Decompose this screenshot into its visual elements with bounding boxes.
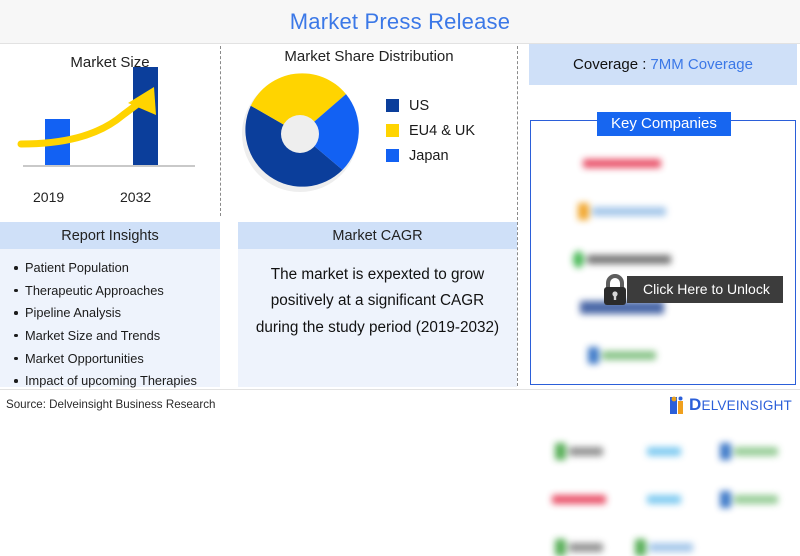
company-logo [573,251,671,268]
market-share-panel: Market Share Distribution US [222,48,516,216]
list-item: Patient Population [14,257,214,280]
list-item: Market Opportunities [14,348,214,371]
unlock-cta[interactable]: Click Here to Unlock [597,271,783,307]
legend-swatch-icon [386,99,399,112]
page-title: Market Press Release [290,9,510,35]
market-cagr-text: The market is expexted to grow positivel… [238,249,517,341]
divider-vertical-right [517,46,518,386]
company-logo [647,447,681,456]
key-companies-badge: Key Companies [597,112,731,136]
company-logo [720,491,778,508]
market-share-legend: US EU4 & UK Japan [386,98,475,173]
report-insights-panel: Report Insights Patient Population Thera… [0,222,220,387]
legend-swatch-icon [386,124,399,137]
market-share-donut-chart [236,73,364,195]
market-size-bar-chart [15,79,205,189]
growth-arrow-icon [15,79,205,189]
footer-bar: Source: Delveinsight Business Research D… [0,389,800,421]
x-label-2019: 2019 [33,189,64,205]
delveinsight-mark-icon [669,394,689,416]
legend-item-us: US [386,98,475,114]
company-logo-grid [531,135,797,383]
legend-label-eu4-uk: EU4 & UK [409,123,475,139]
list-item: Market Size and Trends [14,325,214,348]
source-note: Source: Delveinsight Business Research [6,398,215,411]
company-logo [635,539,693,556]
company-logo [555,443,603,460]
report-insights-title: Report Insights [0,222,220,249]
report-insights-list: Patient Population Therapeutic Approache… [0,249,220,393]
legend-item-eu4-uk: EU4 & UK [386,123,475,139]
brand-name: DELVEINSIGHT [689,395,792,415]
unlock-label[interactable]: Click Here to Unlock [627,276,783,303]
company-logo [578,203,666,220]
market-cagr-title: Market CAGR [238,222,517,249]
key-companies-panel[interactable]: Click Here to Unlock [530,120,796,385]
market-share-title: Market Share Distribution [222,48,516,65]
market-cagr-panel: Market CAGR The market is expexted to gr… [238,222,517,387]
legend-label-us: US [409,98,429,114]
company-logo [555,539,603,556]
coverage-banner: Coverage : 7MM Coverage [529,44,797,85]
company-logo [588,347,656,364]
coverage-label: Coverage : [573,56,646,73]
market-press-release-infographic: Market Press Release Market Size 2019 20… [0,0,800,420]
x-label-2032: 2032 [120,189,151,205]
legend-item-japan: Japan [386,148,475,164]
company-logo [552,495,606,504]
company-logo [647,495,681,504]
delveinsight-logo: DELVEINSIGHT [669,394,792,416]
divider-vertical-left [220,46,221,216]
company-logo [720,443,778,460]
market-share-body: US EU4 & UK Japan [222,73,516,195]
list-item: Therapeutic Approaches [14,280,214,303]
header-bar: Market Press Release [0,0,800,44]
company-logo [583,159,661,168]
legend-swatch-icon [386,149,399,162]
market-size-title: Market Size [0,54,220,71]
list-item: Pipeline Analysis [14,302,214,325]
coverage-value: 7MM Coverage [650,56,753,73]
legend-label-japan: Japan [409,148,449,164]
market-size-panel: Market Size 2019 2032 [0,48,220,216]
padlock-icon [597,271,633,307]
